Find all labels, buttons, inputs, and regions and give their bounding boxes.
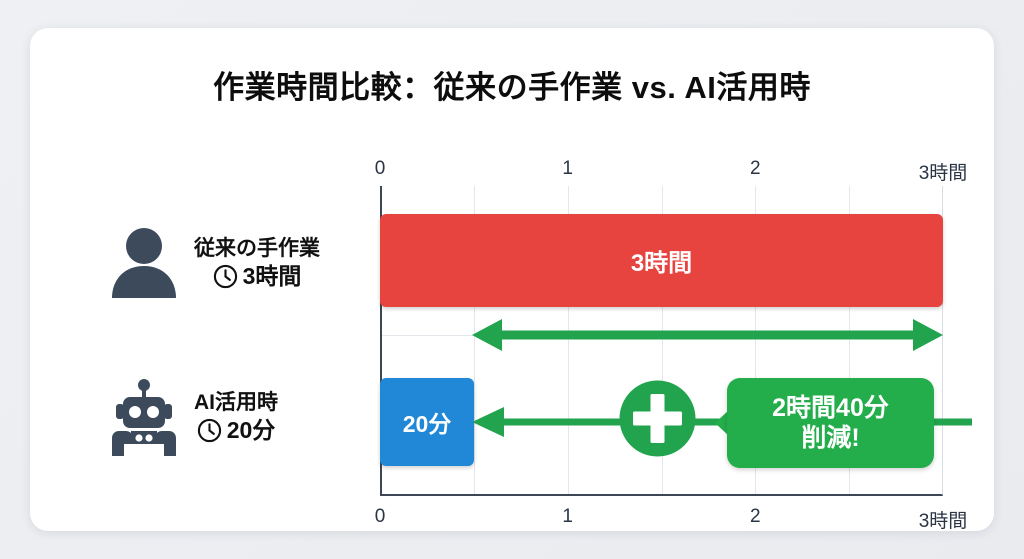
category-ai-duration: 20分 — [197, 418, 276, 443]
clock-icon — [213, 264, 238, 289]
clock-icon — [197, 418, 222, 443]
category-manual-text: 従来の手作業 3時間 — [194, 237, 320, 289]
axis-bottom-tick-1: 1 — [562, 506, 573, 528]
bar-manual-label: 3時間 — [631, 243, 692, 278]
bar-ai-label: 20分 — [403, 405, 452, 439]
bar-manual[interactable]: 3時間 — [380, 214, 943, 307]
infographic-stage: 作業時間比較：従来の手作業 vs. AI活用時 0 1 2 3時間 従来の手作業 — [0, 0, 1024, 559]
bar-ai[interactable]: 20分 — [380, 378, 474, 466]
chart-card: 作業時間比較：従来の手作業 vs. AI活用時 0 1 2 3時間 従来の手作業 — [30, 28, 994, 531]
axis-top-tick-1: 1 — [562, 158, 573, 180]
reduction-callout: 2時間40分 削減! — [715, 378, 934, 468]
callout-line-2: 削減! — [801, 423, 859, 454]
callout-line-1: 2時間40分 — [772, 393, 889, 424]
page-title: 作業時間比較：従来の手作業 vs. AI活用時 — [30, 62, 994, 107]
plot-area: 3時間 20分 — [380, 186, 943, 496]
category-manual-name: 従来の手作業 — [194, 237, 320, 260]
person-icon — [108, 224, 180, 302]
category-manual: 従来の手作業 3時間 — [108, 224, 320, 302]
axis-bottom-tick-2: 2 — [750, 506, 761, 528]
robot-icon — [108, 378, 180, 456]
axis-bottom: 0 1 2 3時間 — [380, 506, 943, 530]
category-manual-duration: 3時間 — [213, 264, 302, 289]
savings-span-arrow — [472, 317, 943, 353]
axis-bottom-tick-3: 3時間 — [919, 506, 968, 533]
axis-top-tick-2: 2 — [750, 158, 761, 180]
plus-badge — [619, 380, 696, 457]
axis-bottom-tick-0: 0 — [375, 506, 386, 528]
category-ai-text: AI活用時 20分 — [194, 391, 278, 443]
axis-top: 0 1 2 3時間 — [380, 158, 943, 182]
category-ai: AI活用時 20分 — [108, 378, 278, 456]
category-ai-duration-text: 20分 — [227, 418, 276, 443]
callout-body: 2時間40分 削減! — [727, 378, 934, 468]
axis-top-tick-3: 3時間 — [919, 158, 968, 185]
category-ai-name: AI活用時 — [194, 391, 278, 414]
category-manual-duration-text: 3時間 — [243, 264, 302, 289]
axis-top-tick-0: 0 — [375, 158, 386, 180]
